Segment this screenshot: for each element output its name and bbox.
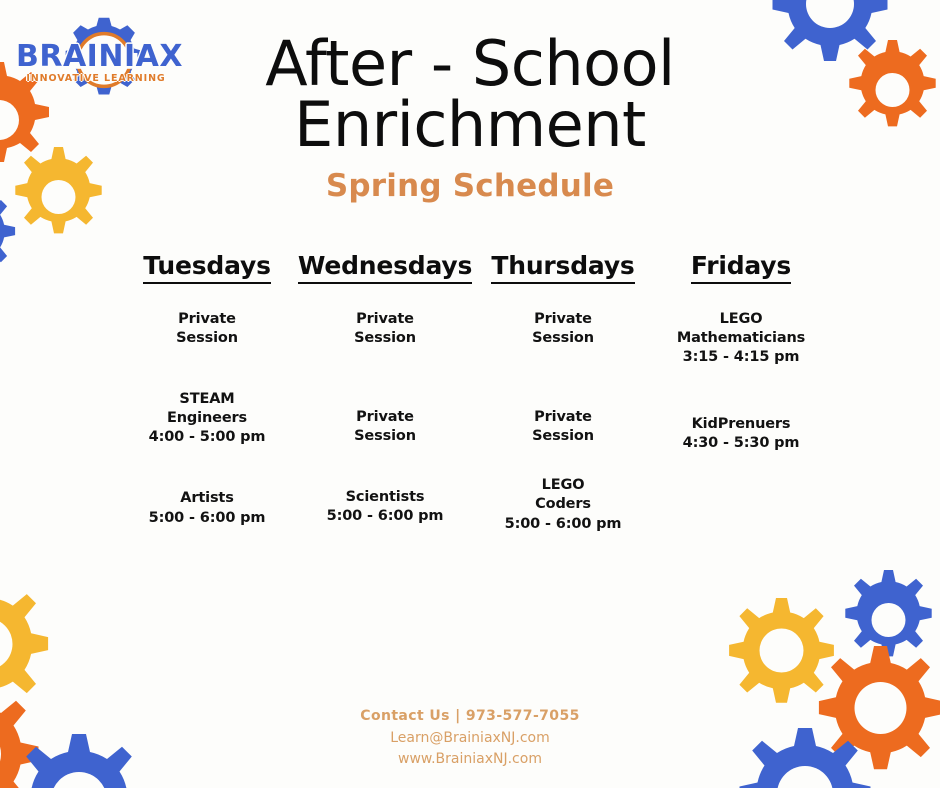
session-line: Mathematicians (652, 329, 830, 348)
contact-website-line[interactable]: www.BrainiaxNJ.com (0, 749, 940, 771)
session-line: LEGO (652, 310, 830, 329)
schedule-column-fridays: Fridays LEGO Mathematicians 3:15 - 4:15 … (652, 252, 830, 453)
session-item: LEGO Coders 5:00 - 6:00 pm (474, 476, 652, 533)
gear-icon (773, 0, 888, 61)
session-line: Engineers (118, 409, 296, 428)
session-item: Private Session (296, 408, 474, 446)
session-time: 4:00 - 5:00 pm (118, 428, 296, 447)
contact-email-line[interactable]: Learn@BrainiaxNJ.com (0, 728, 940, 750)
session-line: Private (474, 310, 652, 329)
session-time: 5:00 - 6:00 pm (296, 507, 474, 526)
contact-footer: Contact Us | 973-577-7055 Learn@Brainiax… (0, 706, 940, 771)
contact-phone-line[interactable]: Contact Us | 973-577-7055 (0, 706, 940, 728)
session-line: Private (118, 310, 296, 329)
session-line: STEAM (118, 390, 296, 409)
gear-icon (0, 192, 15, 270)
gear-icon (729, 598, 834, 703)
session-line: Coders (474, 495, 652, 514)
session-line: Private (296, 310, 474, 329)
session-list-tuesdays: Private Session STEAM Engineers 4:00 - 5… (118, 310, 296, 528)
session-list-wednesdays: Private Session Private Session Scientis… (296, 310, 474, 527)
brainiax-logo[interactable]: BRAINIAX INNOVATIVE LEARNING (16, 16, 176, 108)
page-subtitle: Spring Schedule (200, 168, 740, 204)
gear-icon (849, 40, 935, 126)
schedule-grid: Tuesdays Private Session STEAM Engineers… (118, 252, 830, 534)
logo-wordmark: BRAINIAX (16, 42, 176, 72)
schedule-column-thursdays: Thursdays Private Session Private Sessio… (474, 252, 652, 534)
gear-icon (15, 147, 101, 233)
header-block: After - School Enrichment Spring Schedul… (200, 34, 740, 204)
flyer-canvas: BRAINIAX INNOVATIVE LEARNING After - Sch… (0, 0, 940, 788)
day-header-wednesdays: Wednesdays (298, 252, 472, 284)
session-list-thursdays: Private Session Private Session LEGO Cod… (474, 310, 652, 534)
gear-cluster-top-right (742, 0, 940, 184)
logo-tagline: INNOVATIVE LEARNING (16, 74, 176, 84)
session-line: Scientists (296, 488, 474, 507)
page-title-line2: Enrichment (200, 95, 740, 156)
session-line: Artists (118, 489, 296, 508)
page-title-line1: After - School (200, 34, 740, 95)
session-item: KidPrenuers 4:30 - 5:30 pm (652, 415, 830, 453)
session-line: Private (296, 408, 474, 427)
session-line: LEGO (474, 476, 652, 495)
gear-icon (845, 570, 931, 656)
session-line: Session (296, 329, 474, 348)
session-item: STEAM Engineers 4:00 - 5:00 pm (118, 390, 296, 447)
session-line: KidPrenuers (652, 415, 830, 434)
session-list-fridays: LEGO Mathematicians 3:15 - 4:15 pm KidPr… (652, 310, 830, 454)
session-time: 4:30 - 5:30 pm (652, 434, 830, 453)
session-item: Private Session (474, 408, 652, 446)
schedule-column-tuesdays: Tuesdays Private Session STEAM Engineers… (118, 252, 296, 528)
session-line: Session (474, 427, 652, 446)
session-item: Private Session (474, 310, 652, 348)
schedule-column-wednesdays: Wednesdays Private Session Private Sessi… (296, 252, 474, 527)
day-header-thursdays: Thursdays (491, 252, 634, 284)
session-item: Private Session (296, 310, 474, 348)
gear-icon (0, 582, 48, 705)
session-item: Scientists 5:00 - 6:00 pm (296, 488, 474, 526)
session-item: LEGO Mathematicians 3:15 - 4:15 pm (652, 310, 830, 367)
session-line: Session (118, 329, 296, 348)
session-item: Artists 5:00 - 6:00 pm (118, 489, 296, 527)
session-line: Session (474, 329, 652, 348)
session-item: Private Session (118, 310, 296, 348)
day-header-fridays: Fridays (691, 252, 791, 284)
session-line: Session (296, 427, 474, 446)
session-line: Private (474, 408, 652, 427)
session-time: 5:00 - 6:00 pm (118, 509, 296, 528)
session-time: 3:15 - 4:15 pm (652, 348, 830, 367)
session-time: 5:00 - 6:00 pm (474, 515, 652, 534)
day-header-tuesdays: Tuesdays (143, 252, 271, 284)
